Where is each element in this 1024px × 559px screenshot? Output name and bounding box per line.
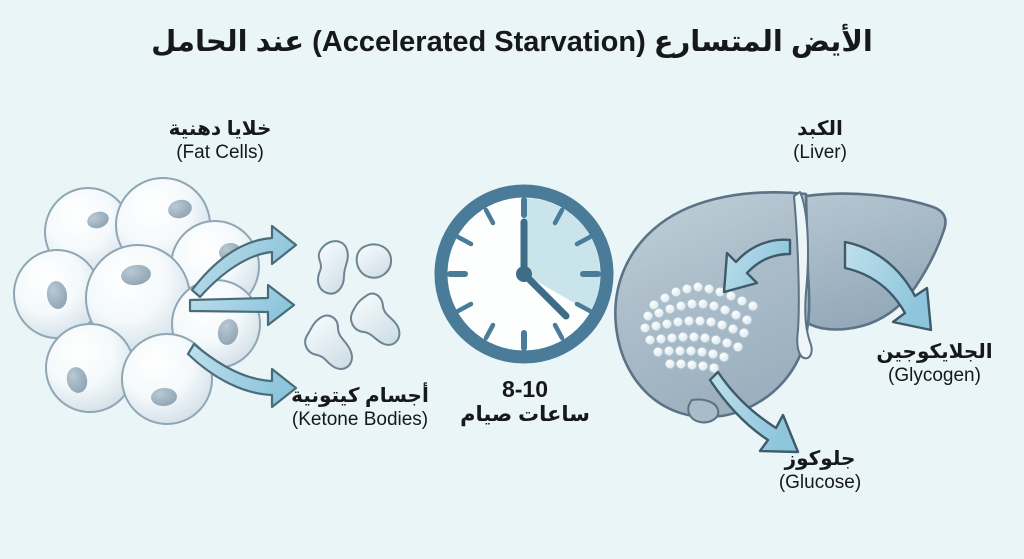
label-glycogen-ar: الجلايكوجين xyxy=(845,341,1024,365)
ketone-body xyxy=(305,316,352,369)
fat-cell xyxy=(46,324,134,412)
label-glycogen: الجلايكوجين (Glycogen) xyxy=(845,341,1024,387)
ketone-bodies xyxy=(305,241,399,369)
label-liver-en: (Liver) xyxy=(700,142,940,164)
label-glucose-en: (Glucose) xyxy=(700,472,940,494)
gallbladder xyxy=(688,399,718,422)
diagram-canvas: الأيض المتسارع (Accelerated Starvation) … xyxy=(0,0,1024,559)
ketone-body xyxy=(351,294,399,345)
label-glucose-ar: جلوكوز xyxy=(700,448,940,472)
fasting-clock xyxy=(441,191,607,357)
liver-organ xyxy=(615,192,945,422)
label-fasting-hours: 8-10 ساعات صيام xyxy=(440,376,610,427)
fasting-hours-caption: ساعات صيام xyxy=(440,403,610,427)
label-glucose: جلوكوز (Glucose) xyxy=(700,448,940,494)
label-fat-cells-ar: خلايا دهنية xyxy=(70,118,370,142)
label-fat-cells-en: (Fat Cells) xyxy=(70,142,370,164)
label-glycogen-en: (Glycogen) xyxy=(845,365,1024,387)
ketone-body xyxy=(357,244,391,277)
clock-center-pin xyxy=(516,266,532,282)
ketone-body xyxy=(318,241,348,294)
label-liver-ar: الكبد xyxy=(700,118,940,142)
fasting-hours-value: 8-10 xyxy=(440,376,610,403)
label-fat-cells: خلايا دهنية (Fat Cells) xyxy=(70,118,370,164)
label-liver: الكبد (Liver) xyxy=(700,118,940,164)
